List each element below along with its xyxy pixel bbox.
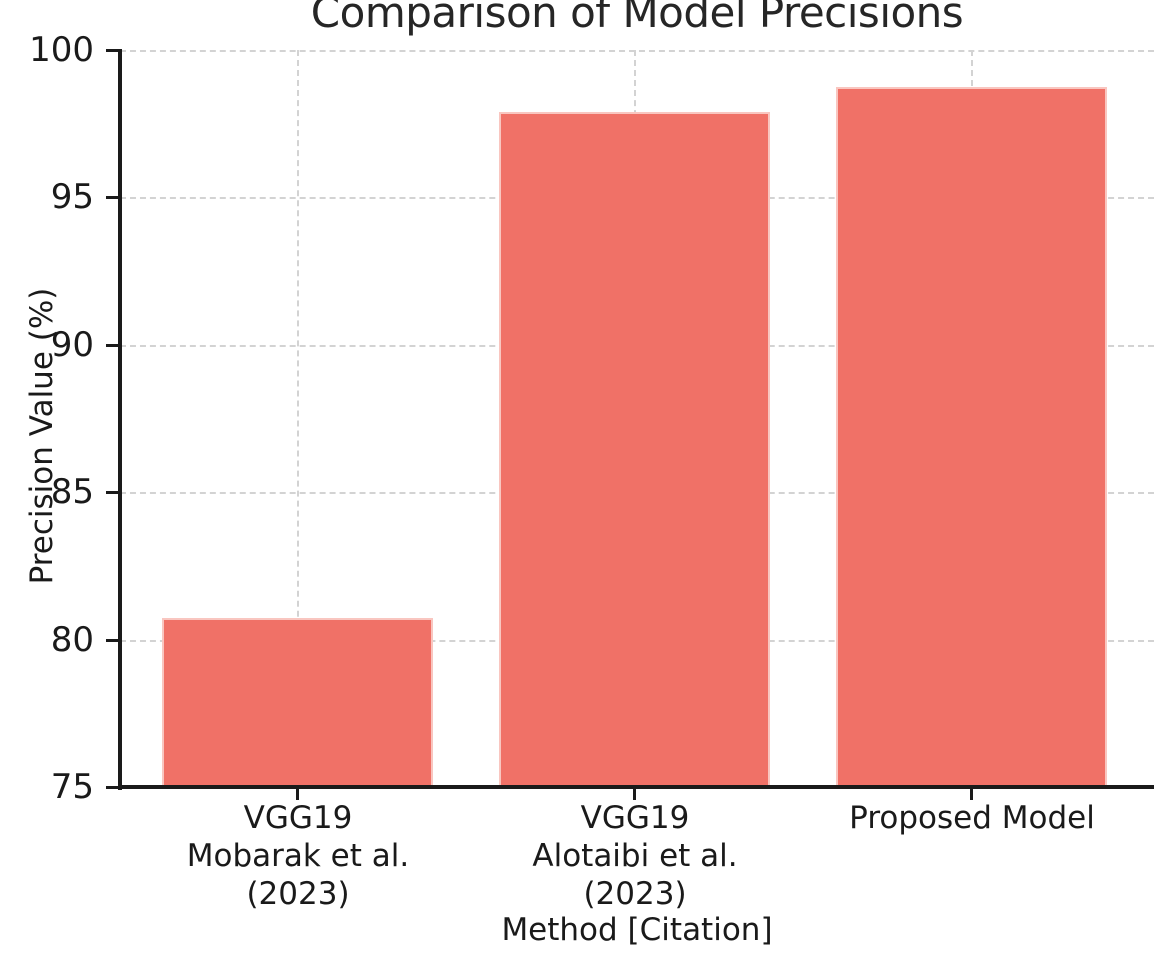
- y-tick-mark-95: [106, 196, 120, 199]
- x-tick-mark-2: [970, 787, 973, 800]
- x-tick-mark-1: [633, 787, 636, 800]
- x-axis-spine: [118, 785, 1154, 789]
- y-axis-spine: [118, 49, 122, 790]
- y-tick-mark-90: [106, 344, 120, 347]
- x-axis-title: Method [Citation]: [120, 912, 1154, 948]
- y-tick-label-100: 100: [29, 33, 94, 67]
- gridline-y-100: [120, 50, 1154, 52]
- bar-chart-figure: Comparison of Model Precisions 100 95 90…: [0, 0, 1154, 955]
- plot-area: [120, 50, 1154, 787]
- y-axis-title: Precision Value (%): [24, 226, 60, 646]
- y-tick-mark-100: [106, 49, 120, 52]
- y-tick-mark-75: [106, 786, 120, 789]
- y-tick-mark-80: [106, 639, 120, 642]
- y-tick-label-95: 95: [51, 180, 94, 214]
- y-tick-mark-85: [106, 491, 120, 494]
- x-tick-label-proposed-model: Proposed Model: [802, 800, 1142, 838]
- chart-title: Comparison of Model Precisions: [120, 0, 1154, 37]
- x-tick-mark-0: [296, 787, 299, 800]
- x-tick-label-vgg19-alotaibi: VGG19 Alotaibi et al. (2023): [465, 800, 805, 913]
- y-tick-label-75: 75: [51, 770, 94, 804]
- bar-vgg19-alotaibi[interactable]: [499, 112, 770, 787]
- bar-vgg19-mobarak[interactable]: [162, 618, 433, 788]
- x-tick-label-vgg19-mobarak: VGG19 Mobarak et al. (2023): [128, 800, 468, 913]
- bar-proposed-model[interactable]: [836, 87, 1107, 787]
